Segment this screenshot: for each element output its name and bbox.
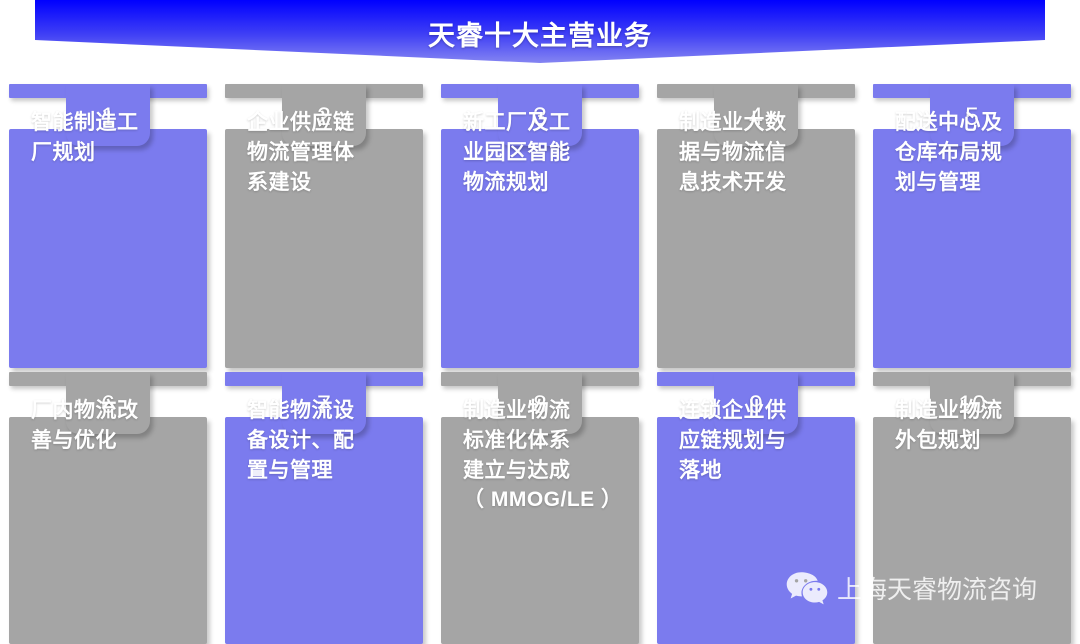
card-label: 配送中心及 仓库布局规 划与管理 <box>895 108 1057 197</box>
business-card-2[interactable]: 2 企业供应链 物流管理体 系建设 <box>225 84 423 368</box>
business-card-5[interactable]: 5 配送中心及 仓库布局规 划与管理 <box>873 84 1071 368</box>
business-card-grid: 1 智能制造工 厂规划 2 企业供应链 物流管理体 系建设 3 新工厂及工 业园… <box>0 70 1080 644</box>
card-label: 企业供应链 物流管理体 系建设 <box>247 108 409 197</box>
card-label: 智能物流设 备设计、配 置与管理 <box>247 396 409 485</box>
card-label: 连锁企业供 应链规划与 落地 <box>679 396 841 485</box>
header-banner: 天睿十大主营业务 <box>0 0 1080 70</box>
business-card-4[interactable]: 4 制造业大数 据与物流信 息技术开发 <box>657 84 855 368</box>
card-row-2: 6 厂内物流改 善与优化 7 智能物流设 备设计、配 置与管理 8 制造业物流 … <box>0 372 1080 644</box>
business-card-3[interactable]: 3 新工厂及工 业园区智能 物流规划 <box>441 84 639 368</box>
card-label: 制造业物流 标准化体系 建立与达成 （ MMOG/LE ） <box>463 396 625 515</box>
business-card-7[interactable]: 7 智能物流设 备设计、配 置与管理 <box>225 372 423 644</box>
page-title: 天睿十大主营业务 <box>0 14 1080 53</box>
business-card-1[interactable]: 1 智能制造工 厂规划 <box>9 84 207 368</box>
business-card-6[interactable]: 6 厂内物流改 善与优化 <box>9 372 207 644</box>
card-label: 厂内物流改 善与优化 <box>31 396 193 456</box>
card-label: 新工厂及工 业园区智能 物流规划 <box>463 108 625 197</box>
business-card-9[interactable]: 9 连锁企业供 应链规划与 落地 <box>657 372 855 644</box>
card-row-1: 1 智能制造工 厂规划 2 企业供应链 物流管理体 系建设 3 新工厂及工 业园… <box>0 84 1080 368</box>
card-label: 制造业大数 据与物流信 息技术开发 <box>679 108 841 197</box>
slide-canvas: 天睿十大主营业务 1 智能制造工 厂规划 2 企业供应链 物流管理体 系建设 <box>0 0 1080 644</box>
business-card-8[interactable]: 8 制造业物流 标准化体系 建立与达成 （ MMOG/LE ） <box>441 372 639 644</box>
business-card-10[interactable]: 10 制造业物流 外包规划 <box>873 372 1071 644</box>
card-label: 制造业物流 外包规划 <box>895 396 1057 456</box>
card-label: 智能制造工 厂规划 <box>31 108 193 168</box>
